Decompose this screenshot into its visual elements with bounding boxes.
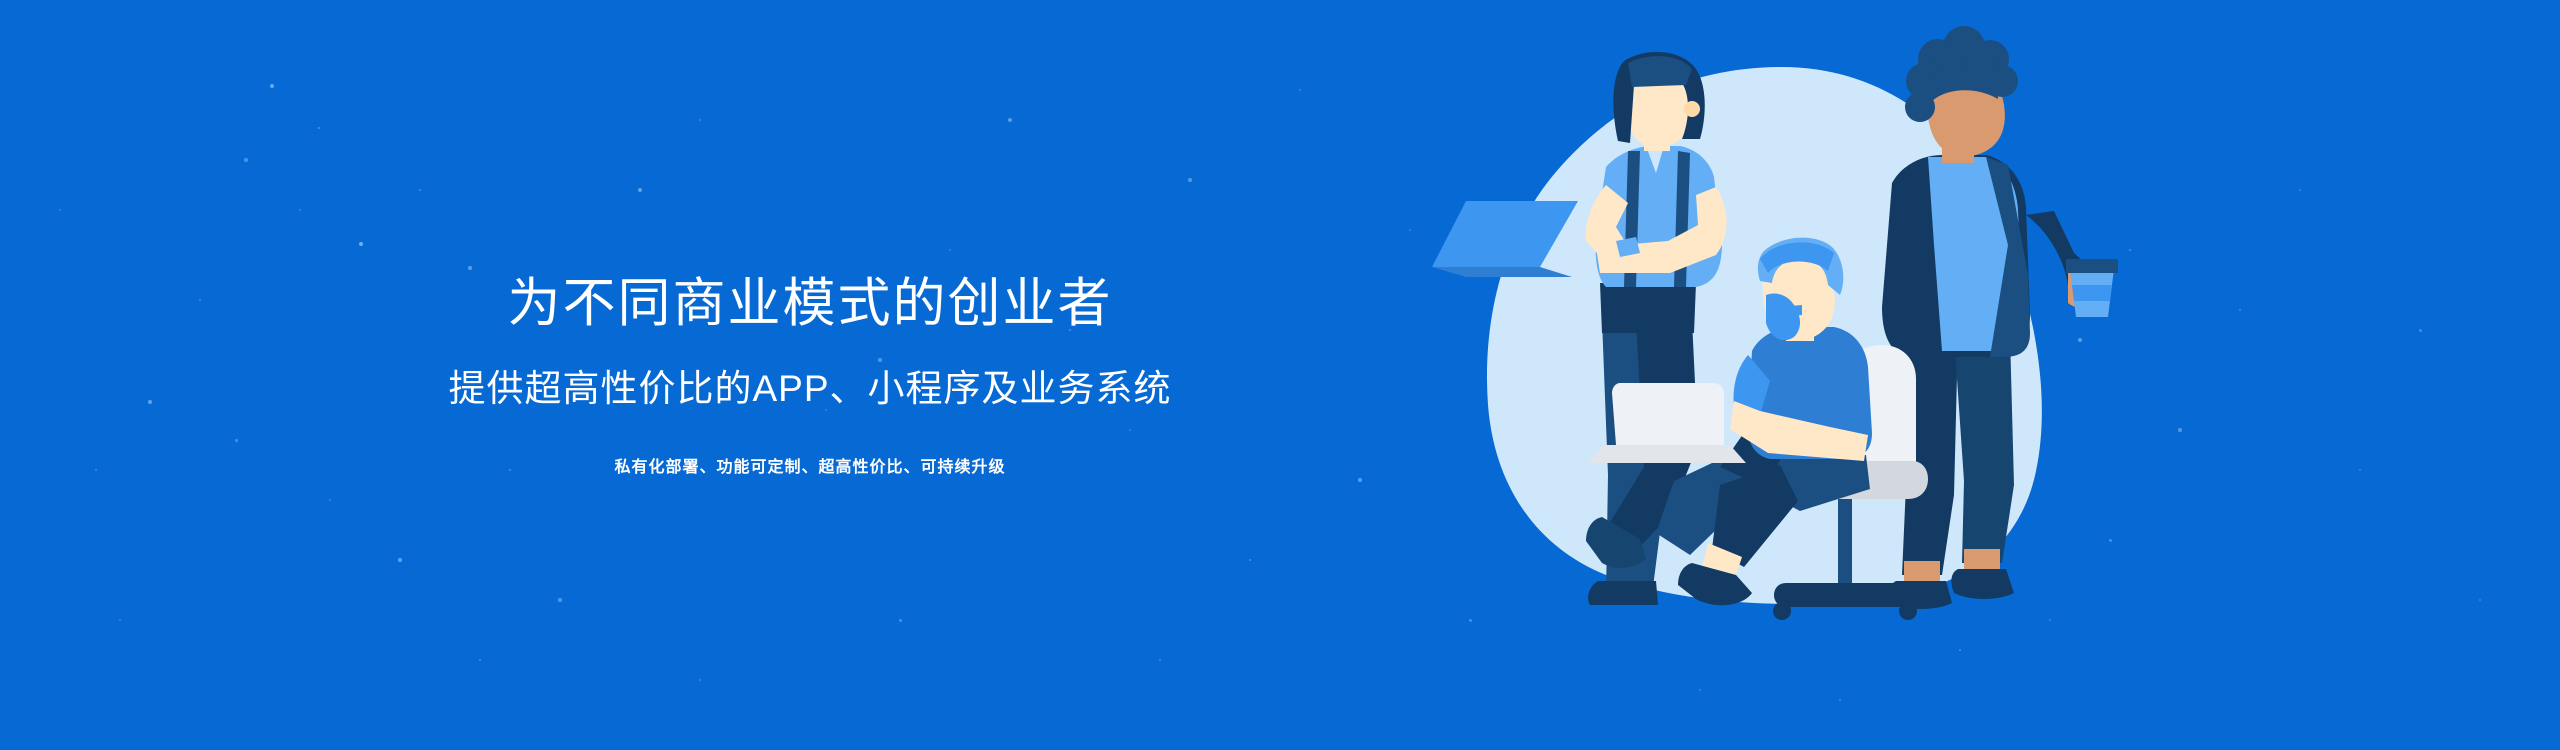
chair-wheel-right: [1899, 602, 1917, 620]
man3-laptop-base: [1588, 445, 1746, 463]
chair-base: [1774, 583, 1916, 607]
hero-subheadline: 提供超高性价比的APP、小程序及业务系统: [448, 365, 1171, 413]
particle-dot: [2239, 309, 2241, 311]
man3-mustache: [1778, 305, 1802, 317]
hero-copy: 为不同商业模式的创业者 提供超高性价比的APP、小程序及业务系统 私有化部署、功…: [0, 0, 1440, 750]
man2-leg-right: [1954, 335, 2014, 563]
particle-dot: [2359, 469, 2361, 471]
team-working-illustration: [1430, 15, 2130, 715]
coffee-cup-lid: [2066, 259, 2118, 273]
figure-standing-man-with-coffee: [1882, 26, 2118, 609]
hero-banner: 为不同商业模式的创业者 提供超高性价比的APP、小程序及业务系统 私有化部署、功…: [0, 0, 2560, 750]
particle-dot: [2299, 189, 2302, 192]
hero-tagline: 私有化部署、功能可定制、超高性价比、可持续升级: [614, 457, 1005, 479]
woman-back-shoe: [1588, 581, 1658, 605]
hero-headline: 为不同商业模式的创业者: [508, 271, 1113, 337]
man2-shoe-right: [1951, 569, 2014, 599]
chair-wheel-left: [1773, 602, 1791, 620]
woman-hips: [1600, 283, 1696, 333]
chair-post: [1838, 499, 1852, 585]
man3-laptop-screen: [1612, 383, 1724, 445]
woman-ear: [1684, 101, 1700, 117]
coffee-cup-sleeve: [2072, 285, 2112, 301]
particle-dot: [2419, 329, 2422, 332]
particle-dot: [2479, 599, 2481, 601]
particle-dot: [2178, 428, 2181, 431]
